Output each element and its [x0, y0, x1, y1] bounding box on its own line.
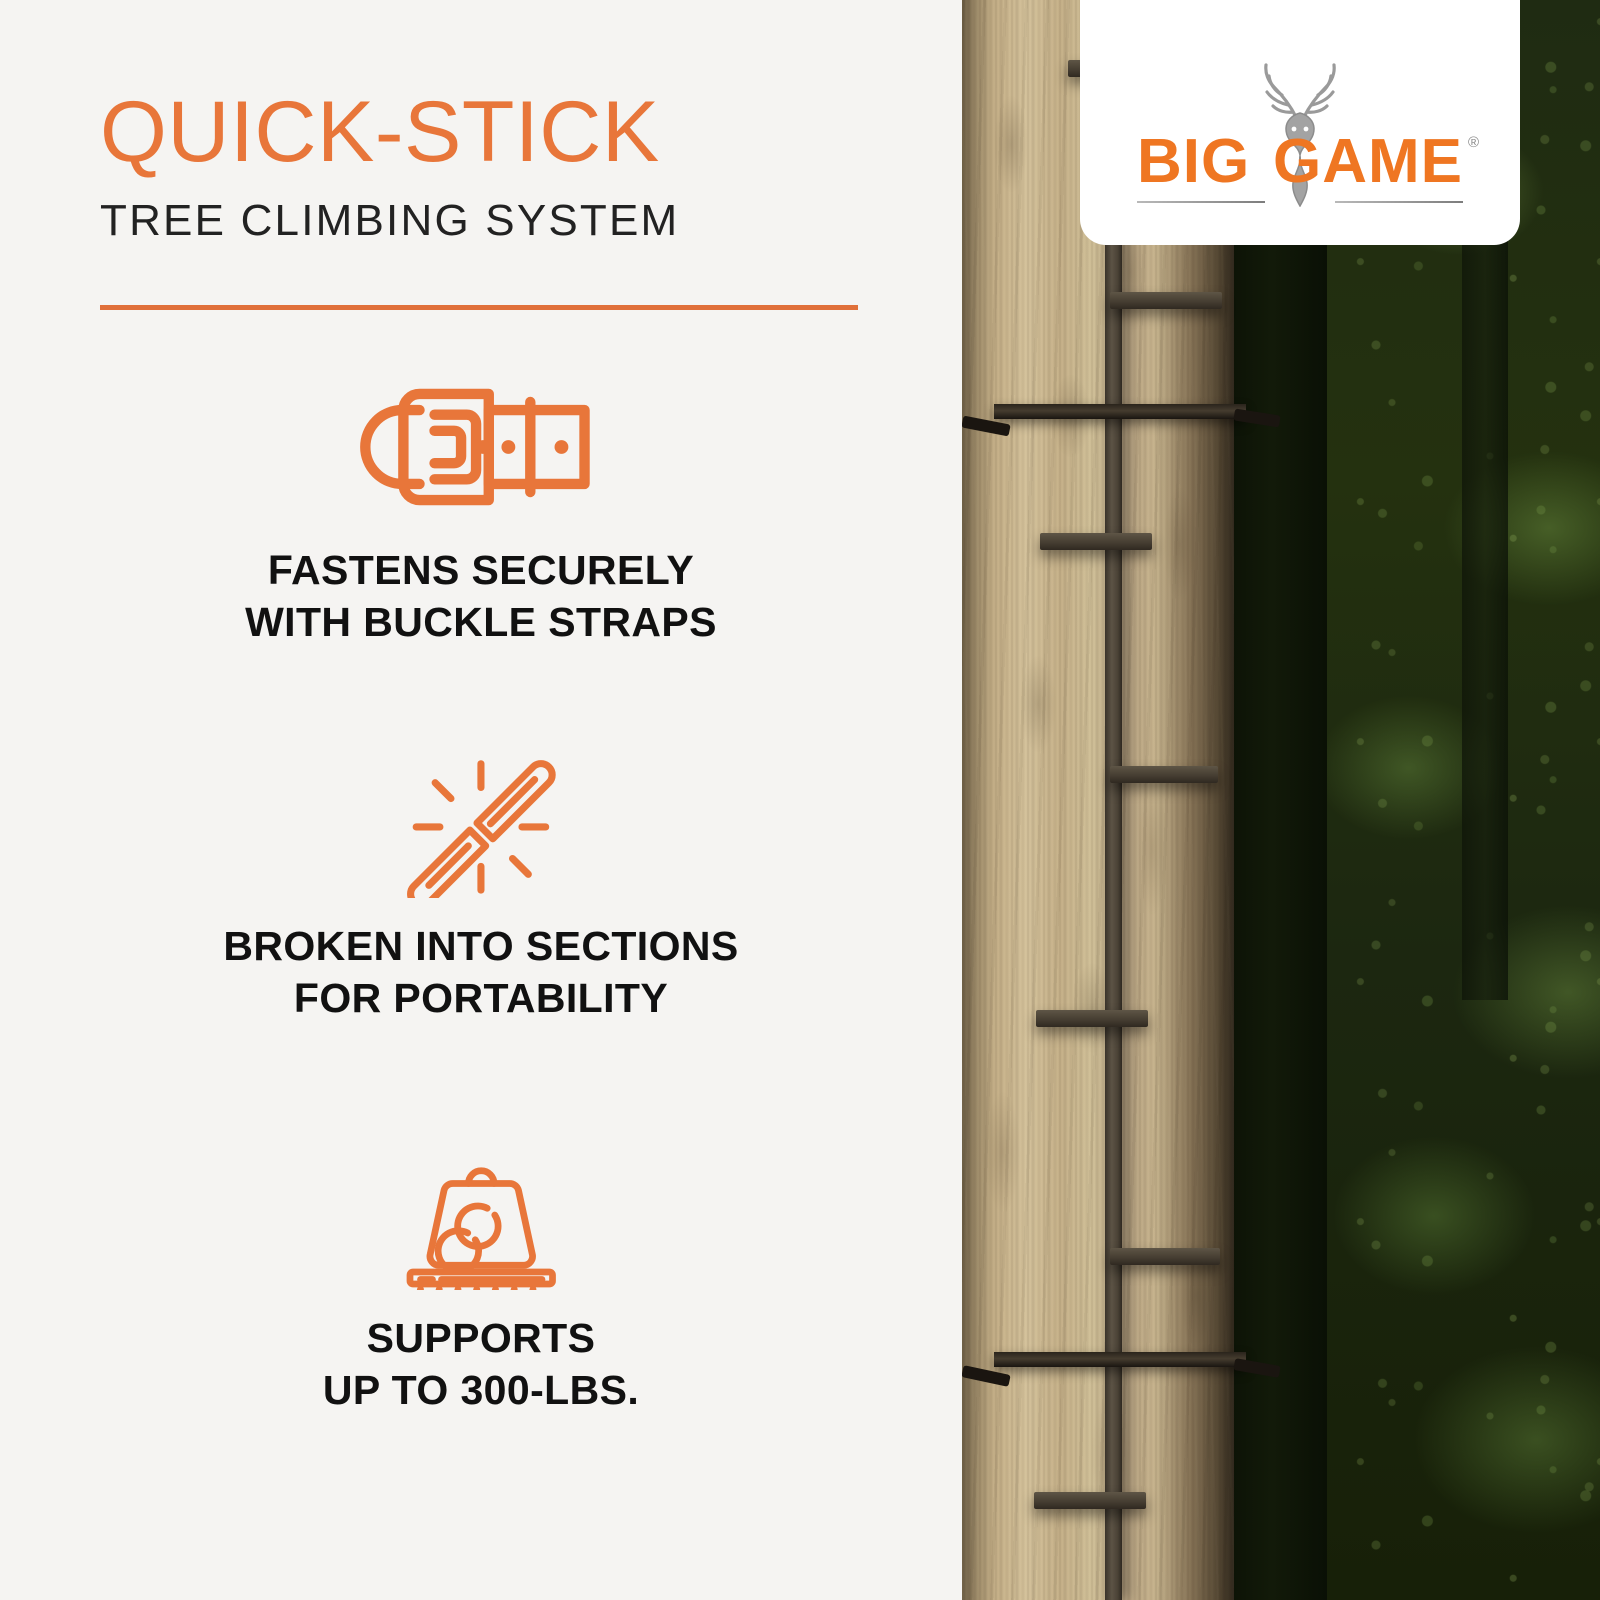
page-title: QUICK-STICK [100, 92, 890, 174]
weight-on-platform-icon [395, 1140, 568, 1290]
ladder-step [1110, 766, 1218, 783]
info-panel: QUICK-STICK TREE CLIMBING SYSTEM [0, 0, 962, 1600]
product-feature-graphic: QUICK-STICK TREE CLIMBING SYSTEM [0, 0, 1600, 1600]
breakaway-stick-icon [402, 748, 560, 898]
feature-item-fastens-securely: FASTENS SECURELY WITH BUCKLE STRAPS [0, 372, 962, 649]
feature-label: BROKEN INTO SECTIONS FOR PORTABILITY [0, 920, 962, 1025]
brand-logo-card: BIG GAME ® [1080, 0, 1520, 245]
feature-item-supports-300-lbs: SUPPORTS UP TO 300-LBS. [0, 1140, 962, 1417]
title-divider [100, 305, 858, 310]
feature-item-broken-into-sections: BROKEN INTO SECTIONS FOR PORTABILITY [0, 748, 962, 1025]
buckle-strap [994, 1352, 1246, 1367]
registered-trademark-symbol: ® [1468, 134, 1479, 151]
brand-wordmark: BIG GAME [1135, 131, 1465, 193]
ladder-step [1034, 1492, 1146, 1509]
ladder-step [1036, 1010, 1148, 1027]
title-block: QUICK-STICK TREE CLIMBING SYSTEM [100, 92, 890, 246]
buckle-strap [994, 404, 1246, 419]
ladder-step [1110, 1248, 1220, 1265]
logo-underline-right [1335, 201, 1463, 203]
page-subtitle: TREE CLIMBING SYSTEM [100, 196, 890, 246]
belt-buckle-icon [348, 372, 613, 522]
logo-word-game: GAME [1273, 131, 1463, 193]
feature-label: SUPPORTS UP TO 300-LBS. [0, 1312, 962, 1417]
feature-label: FASTENS SECURELY WITH BUCKLE STRAPS [0, 544, 962, 649]
ladder-step [1110, 292, 1222, 309]
logo-underline-left [1137, 201, 1265, 203]
logo-word-big: BIG [1137, 131, 1250, 193]
ladder-step [1040, 533, 1152, 550]
